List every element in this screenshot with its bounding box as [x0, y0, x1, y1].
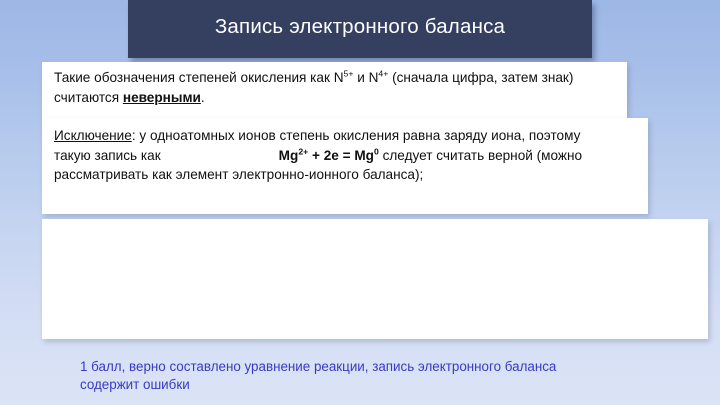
- slide-title: Запись электронного баланса: [128, 15, 592, 39]
- formula-element: Mg: [279, 148, 299, 163]
- scoring-caption: 1 балл, верно составлено уравнение реакц…: [80, 358, 600, 395]
- slide-title-bar: Запись электронного баланса: [128, 0, 592, 58]
- formula-charge-superscript: 2+: [298, 146, 308, 156]
- paragraph-oxidation-notation: Такие обозначения степеней окисления как…: [54, 68, 594, 107]
- paragraph-exception: Исключение: у одноатомных ионов степень …: [54, 126, 614, 185]
- paragraph1-mid: и N: [353, 70, 378, 85]
- chemical-formula-magnesium: Mg2+ + 2e = Mg0: [279, 148, 379, 163]
- paragraph1-end: .: [201, 90, 205, 105]
- slide-canvas: Запись электронного баланса Такие обозна…: [0, 0, 720, 405]
- content-panel-empty: [42, 219, 708, 339]
- paragraph1-lead: Такие обозначения степеней окисления как…: [54, 70, 344, 85]
- nitrogen-superscript-5plus: 5+: [344, 68, 354, 78]
- paragraph1-emphasis-nevernymi: неверными: [123, 90, 201, 105]
- nitrogen-superscript-4plus: 4+: [378, 68, 388, 78]
- formula-oxidation-superscript: 0: [374, 146, 379, 156]
- formula-middle: + 2e = Mg: [308, 148, 374, 163]
- exception-label: Исключение: [54, 128, 132, 143]
